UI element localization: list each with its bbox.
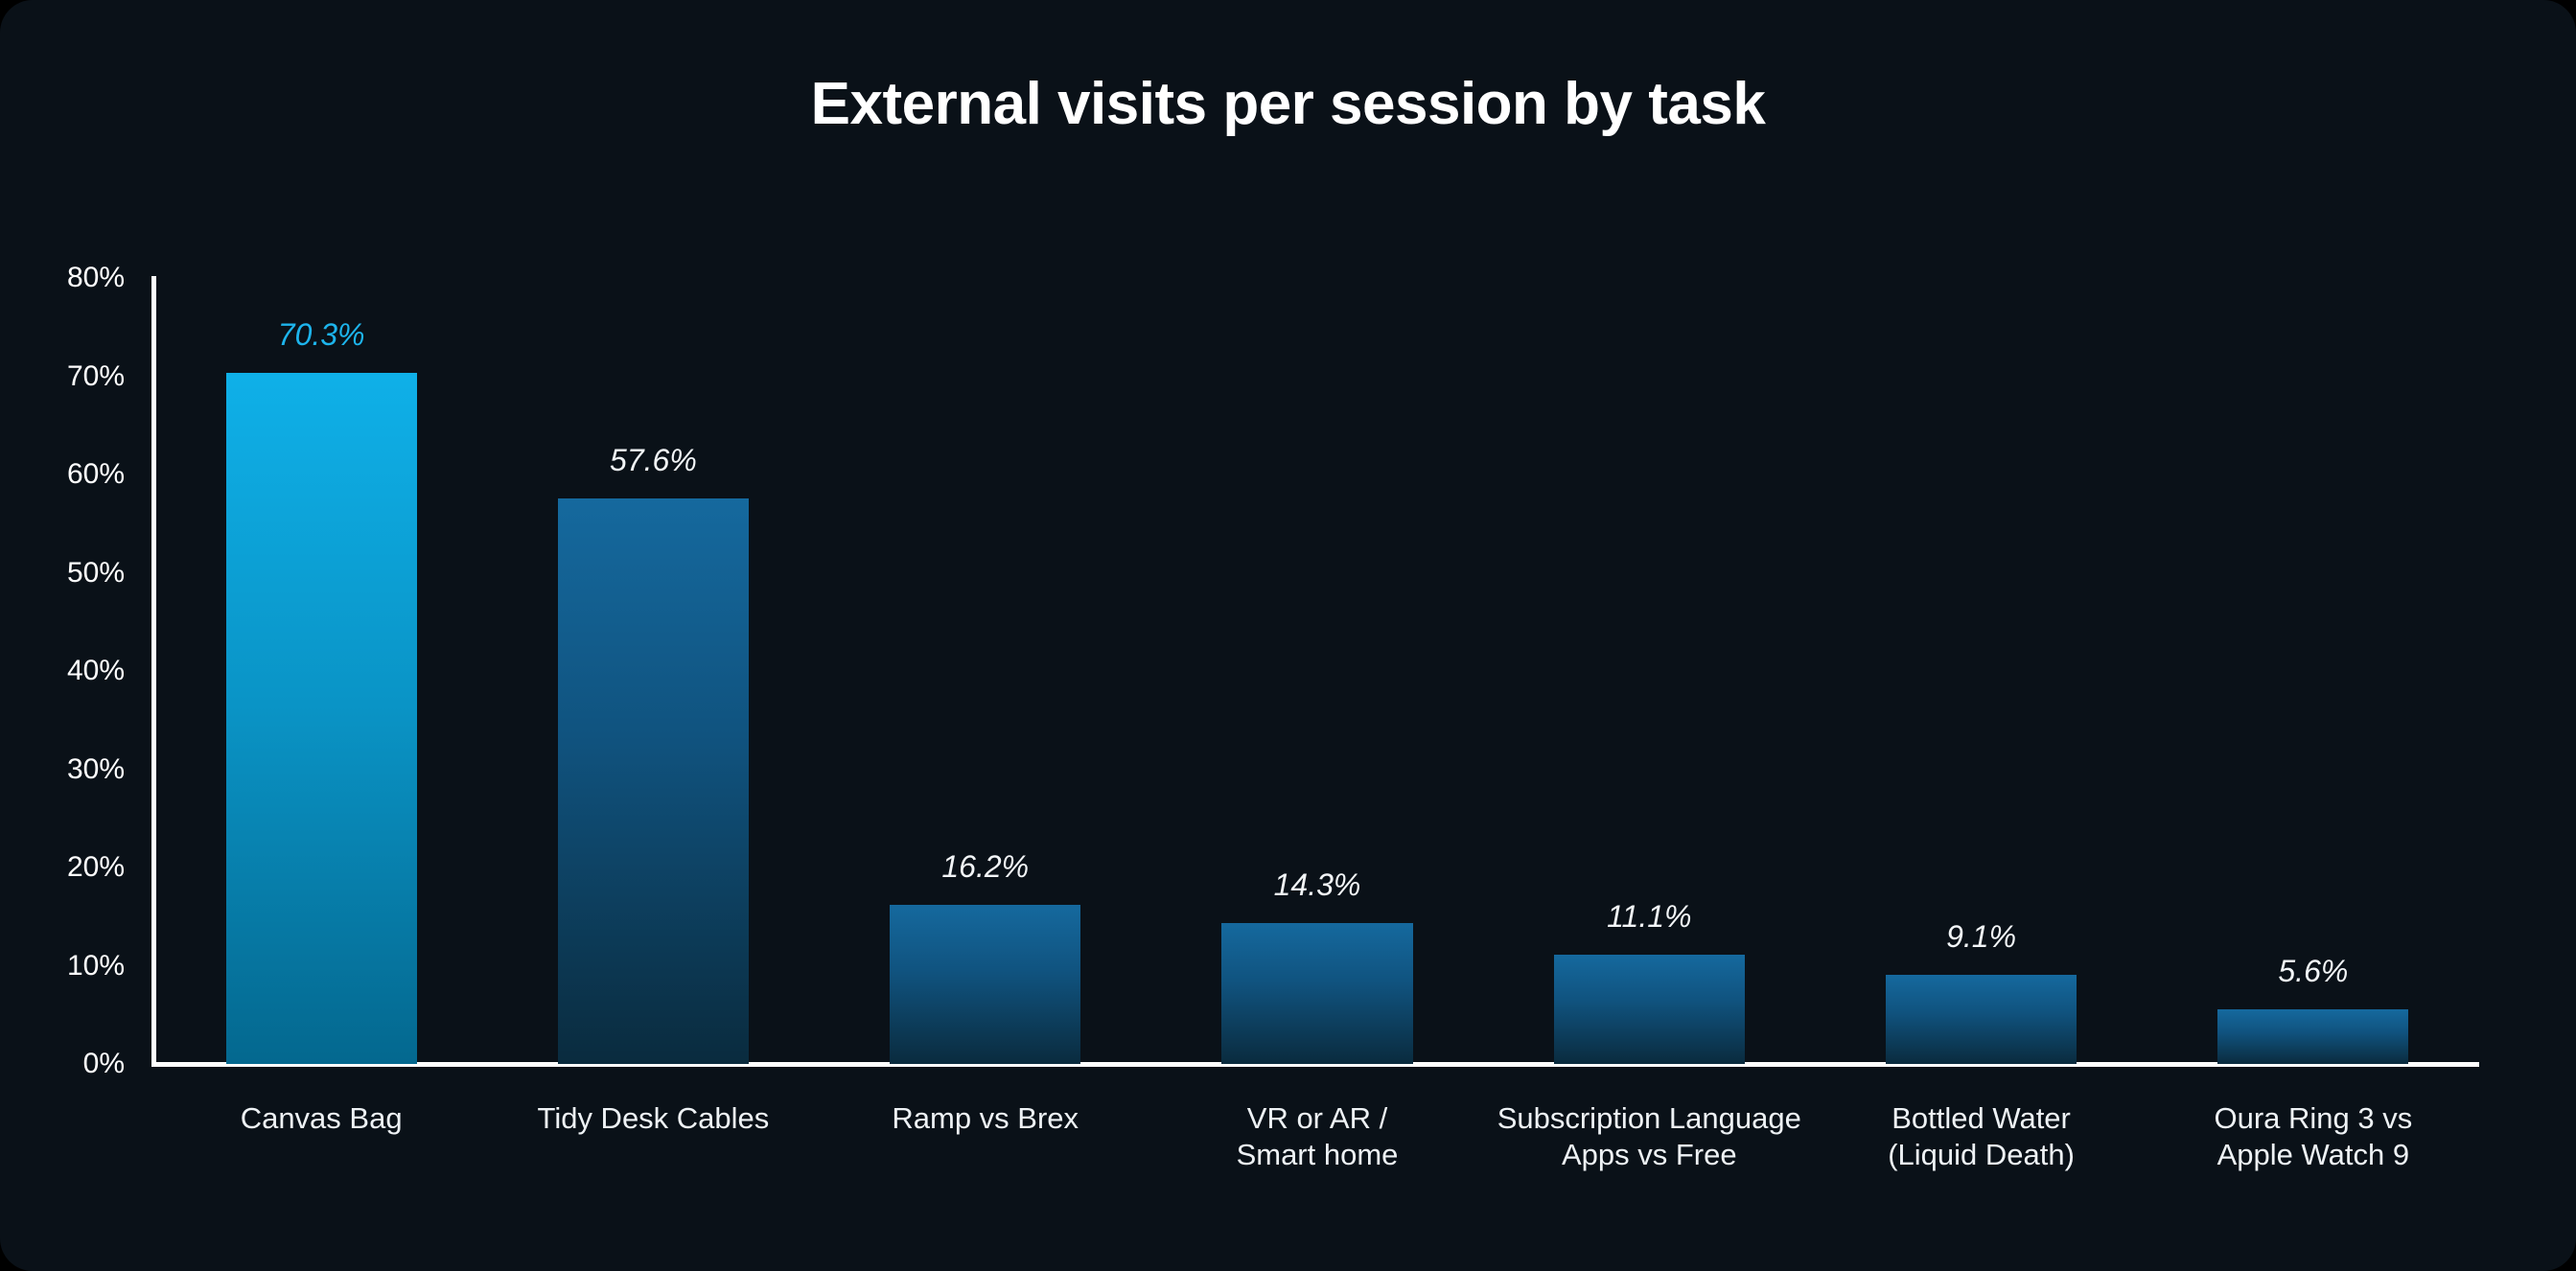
- y-axis-tick-40: 40%: [10, 657, 125, 685]
- bar[interactable]: [558, 498, 749, 1064]
- y-axis-tick-30: 30%: [10, 755, 125, 784]
- x-axis-category-label: Bottled Water(Liquid Death): [1814, 1100, 2148, 1173]
- x-axis-category-label-line: Smart home: [1149, 1137, 1484, 1173]
- x-axis-category-label-line: VR or AR /: [1149, 1100, 1484, 1137]
- x-axis-category-label: VR or AR /Smart home: [1149, 1100, 1484, 1173]
- bar-group: 11.1%Subscription LanguageApps vs Free: [1554, 0, 1745, 1271]
- bar[interactable]: [2217, 1009, 2408, 1064]
- x-axis-category-label-line: Tidy Desk Cables: [486, 1100, 821, 1137]
- x-axis-category-label: Ramp vs Brex: [818, 1100, 1152, 1137]
- x-axis-category-label: Oura Ring 3 vsApple Watch 9: [2146, 1100, 2480, 1173]
- bar[interactable]: [1221, 923, 1412, 1064]
- bars-layer: 70.3%Canvas Bag57.6%Tidy Desk Cables16.2…: [155, 0, 2479, 1271]
- bar[interactable]: [890, 905, 1080, 1064]
- bar-group: 70.3%Canvas Bag: [226, 0, 417, 1271]
- y-axis-tick-60: 60%: [10, 460, 125, 489]
- x-axis-category-label: Canvas Bag: [154, 1100, 489, 1137]
- bar-group: 16.2%Ramp vs Brex: [890, 0, 1080, 1271]
- x-axis-category-label-line: Apple Watch 9: [2146, 1137, 2480, 1173]
- x-axis-category-label-line: Ramp vs Brex: [818, 1100, 1152, 1137]
- bar-group: 9.1%Bottled Water(Liquid Death): [1886, 0, 2077, 1271]
- y-axis-tick-70: 70%: [10, 362, 125, 391]
- bar[interactable]: [1886, 975, 2077, 1064]
- bar-value-label: 16.2%: [832, 851, 1138, 882]
- bar-group: 5.6%Oura Ring 3 vsApple Watch 9: [2217, 0, 2408, 1271]
- bar-value-label: 70.3%: [169, 319, 475, 350]
- y-axis-tick-10: 10%: [10, 952, 125, 981]
- bar-value-label: 5.6%: [2160, 956, 2466, 986]
- y-axis-tick-20: 20%: [10, 853, 125, 882]
- bar-group: 57.6%Tidy Desk Cables: [558, 0, 749, 1271]
- bar-group: 14.3%VR or AR /Smart home: [1221, 0, 1412, 1271]
- x-axis-category-label-line: Bottled Water: [1814, 1100, 2148, 1137]
- y-axis-tick-50: 50%: [10, 559, 125, 588]
- x-axis-category-label-line: Oura Ring 3 vs: [2146, 1100, 2480, 1137]
- x-axis-category-label-line: Apps vs Free: [1482, 1137, 1817, 1173]
- chart-card: External visits per session by task 80%7…: [0, 0, 2576, 1271]
- x-axis-category-label: Subscription LanguageApps vs Free: [1482, 1100, 1817, 1173]
- x-axis-category-label-line: Subscription Language: [1482, 1100, 1817, 1137]
- bar-value-label: 14.3%: [1164, 869, 1470, 900]
- x-axis-category-label-line: (Liquid Death): [1814, 1137, 2148, 1173]
- y-axis-tick-labels: 80%70%60%50%40%30%20%10%0%: [0, 0, 144, 1271]
- bar-value-label: 11.1%: [1497, 901, 1802, 932]
- bar-value-label: 57.6%: [500, 445, 806, 475]
- y-axis-tick-0: 0%: [10, 1050, 125, 1078]
- x-axis-category-label-line: Canvas Bag: [154, 1100, 489, 1137]
- bar-value-label: 9.1%: [1828, 921, 2134, 952]
- bar[interactable]: [226, 373, 417, 1064]
- x-axis-category-label: Tidy Desk Cables: [486, 1100, 821, 1137]
- y-axis-tick-80: 80%: [10, 264, 125, 292]
- bar[interactable]: [1554, 955, 1745, 1064]
